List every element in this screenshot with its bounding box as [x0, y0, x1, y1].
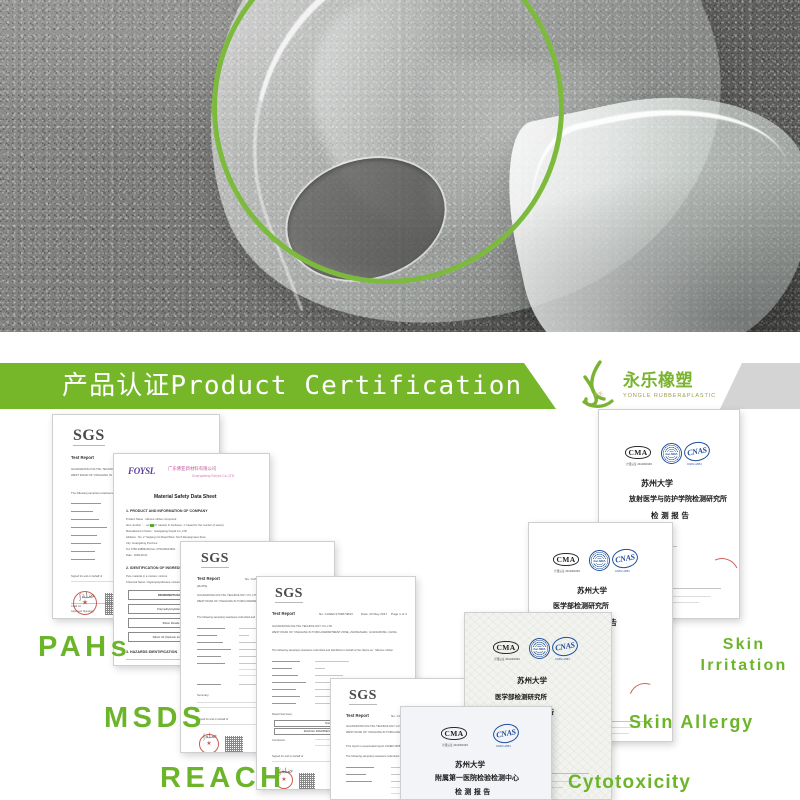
doc-type: Test Report: [346, 713, 369, 718]
report-page: Page 1 of 4: [391, 612, 407, 616]
msds-title: Material Safety Data Sheet: [154, 494, 217, 500]
msds-section-2: 2. IDENTIFICATION OF INGREDIENT: [126, 566, 188, 570]
cnas-caption: CNAS L2954: [615, 570, 630, 573]
sgs-logo: SGS: [275, 587, 303, 603]
org-name-cn: 苏州大学: [517, 675, 547, 686]
company-name-cn: 广东佛亚新材料有限公司: [168, 466, 216, 472]
floor-lighting-gradient: [0, 0, 800, 332]
ilac-mra-logo: ilac-MRA: [529, 638, 550, 659]
brand-logo: 永乐 永乐橡塑 YONGLE RUBBER&PLASTIC: [578, 358, 720, 412]
org-name-cn: 苏州大学: [641, 478, 673, 489]
company-name-en: Guangdong Folysil Co.,LTD: [192, 474, 234, 478]
brand-name-en: YONGLE RUBBER&PLASTIC: [623, 393, 716, 399]
label-cytotoxicity: Cytotoxicity: [568, 772, 691, 794]
doc-title-cn: 检 测 报 告: [455, 787, 490, 797]
dept-name-cn: 放射医学与防护学院检测研究所: [629, 494, 727, 504]
cma-caption: 计量认证 2012001993: [547, 569, 587, 573]
ilac-mra-logo: ilac-MRA: [661, 443, 682, 464]
yongle-leaf-icon: 永乐: [578, 360, 618, 410]
report-date: Date: 22 May 2017: [361, 612, 387, 616]
cnas-caption: CNAS L2954: [687, 463, 702, 466]
cma-caption: 计量认证 2012001993: [435, 743, 475, 747]
label-msds: MSDS: [104, 702, 206, 735]
signoff-text: Signed for and on behalf of: [71, 575, 102, 578]
doc-type: Test Report: [71, 455, 94, 460]
cnas-caption: CNAS L2954: [555, 658, 570, 661]
page-title: 产品认证Product Certification: [0, 373, 522, 399]
foysl-logo: FOYSL: [128, 466, 155, 476]
cnas-logo: CNAS: [492, 722, 521, 745]
section-title-banner: 产品认证Product Certification: [0, 363, 556, 409]
doc-type: Test Report: [197, 576, 220, 581]
cma-caption: 计量认证 2012001993: [619, 462, 659, 466]
doc-type: Test Report: [272, 611, 295, 616]
sgs-logo: SGS: [73, 428, 105, 446]
org-name-cn: 苏州大学: [577, 585, 607, 596]
sgs-logo: SGS: [201, 552, 229, 568]
doc-sub-label: (RoHS): [197, 584, 207, 588]
ilac-mra-logo: ilac-MRA: [589, 550, 610, 571]
dept-name-cn: 医学部检测研究所: [553, 601, 609, 611]
doc-title-cn: 检 测 报 告: [651, 510, 689, 521]
cma-logo: CMA: [553, 553, 579, 566]
cma-logo: CMA: [625, 446, 651, 459]
red-stamp: [700, 553, 740, 597]
label-pahs: PAHs: [38, 631, 131, 664]
gray-accent-banner: [720, 363, 800, 409]
org-name-cn: 苏州大学: [455, 759, 485, 770]
red-stamp: ★: [73, 591, 97, 615]
product-photo: [0, 0, 800, 332]
cnas-logo: CNAS: [683, 440, 712, 463]
sgs-logo: SGS: [349, 689, 377, 705]
msds-section-3: 3. HAZARDS IDENTIFICATION: [126, 650, 177, 654]
brand-name-cn: 永乐橡塑: [623, 373, 716, 391]
msds-section-1: 1. PRODUCT AND INFORMATION OF COMPANY: [126, 509, 208, 513]
svg-text:永乐: 永乐: [593, 391, 603, 398]
brand-wordmark: 永乐橡塑 YONGLE RUBBER&PLASTIC: [623, 371, 716, 399]
certificate-collage: SGS Test Report No. CANEC1703852645 Date…: [0, 406, 800, 800]
label-skin-irritation: Skin Irritation: [694, 634, 794, 676]
report-ref-no: No. CANEC1703874843: [319, 612, 353, 616]
cma-caption: 计量认证 2012001993: [487, 657, 527, 661]
dept-name-cn: 附属第一医院检验检测中心: [435, 773, 519, 783]
cnas-logo: CNAS: [551, 635, 580, 658]
cnas-logo: CNAS: [611, 547, 640, 570]
certificate-cma-4[interactable]: CMA 计量认证 2012001993 CNAS CNAS L2954 苏州大学…: [400, 706, 552, 800]
dept-name-cn: 医学部检测研究所: [495, 691, 547, 701]
cnas-caption: CNAS L2954: [496, 745, 511, 748]
label-skin-allergy: Skin Allergy: [629, 712, 754, 733]
cma-logo: CMA: [441, 727, 467, 740]
cma-logo: CMA: [493, 641, 519, 654]
label-reach: REACH: [160, 762, 286, 795]
